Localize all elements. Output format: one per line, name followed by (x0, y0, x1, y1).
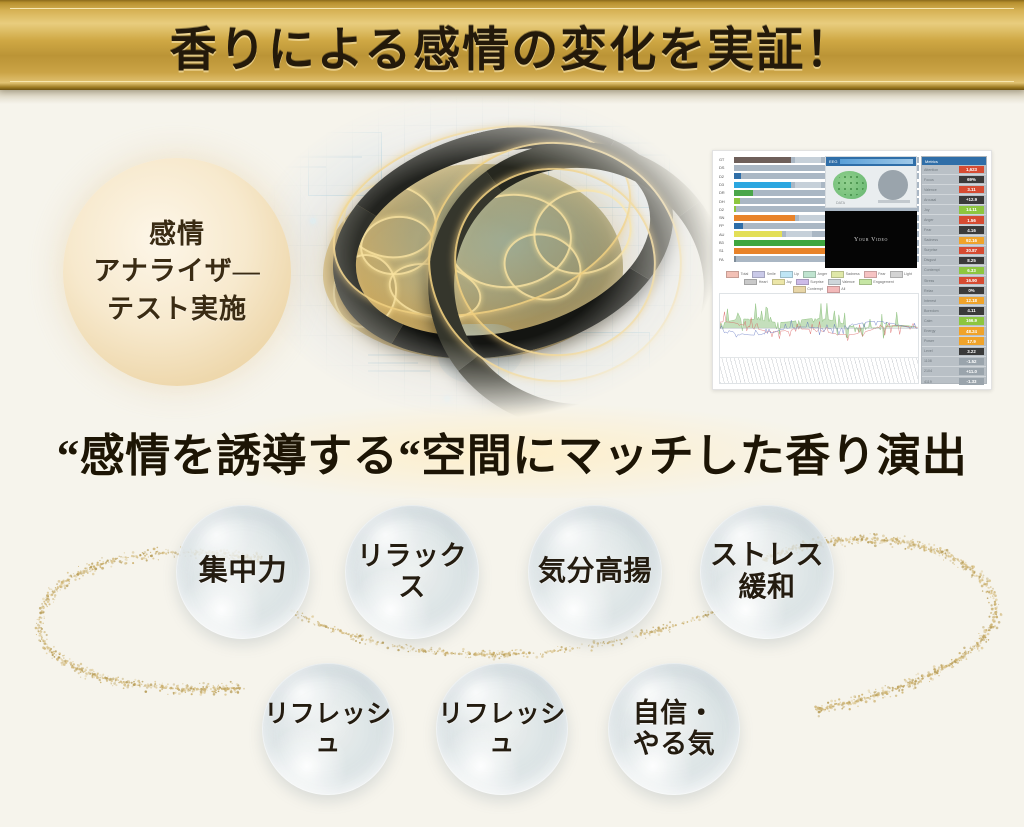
gold-dust-particle (185, 688, 186, 689)
gold-dust-particle (839, 538, 840, 539)
gold-dust-particle (500, 656, 501, 657)
gold-dust-particle (59, 585, 61, 587)
gold-dust-particle (41, 637, 42, 638)
gold-dust-particle (972, 570, 974, 572)
metrics-row-value: 3.11 (959, 186, 984, 193)
legend-swatch (859, 279, 872, 286)
gold-dust-particle (69, 575, 71, 577)
gold-dust-particle (208, 686, 210, 688)
gold-dust-particle (956, 558, 958, 560)
gold-dust-particle (966, 566, 969, 569)
gold-dust-particle (943, 553, 945, 555)
gold-dust-particle (643, 632, 646, 635)
gold-dust-particle (930, 674, 931, 675)
gold-dust-particle (652, 627, 654, 629)
legend-label: Light (904, 272, 912, 276)
bar-chart-fill (734, 198, 740, 204)
gold-dust-particle (657, 630, 660, 633)
gold-dust-particle (1000, 613, 1003, 616)
gold-dust-particle (986, 586, 987, 587)
gold-dust-particle (359, 642, 361, 644)
gold-dust-particle (854, 696, 856, 698)
gold-dust-particle (852, 539, 853, 540)
gold-dust-particle (85, 669, 87, 671)
gold-dust-particle (834, 540, 836, 542)
benefit-bubble-row1-3[interactable]: 気分高揚 (528, 505, 662, 639)
gold-dust-particle (86, 567, 87, 568)
gold-dust-particle (368, 638, 370, 640)
gold-dust-particle (871, 542, 873, 544)
gold-dust-particle (434, 651, 435, 652)
gold-dust-particle (581, 643, 583, 645)
gold-dust-particle (144, 555, 145, 556)
gold-dust-particle (396, 646, 398, 648)
timeseries-svg (720, 294, 918, 358)
gold-dust-particle (982, 590, 983, 591)
gold-dust-particle (1000, 613, 1002, 615)
gold-dust-particle (423, 650, 426, 653)
gold-dust-particle (837, 537, 840, 540)
gold-dust-particle (465, 657, 466, 658)
gold-dust-particle (386, 647, 389, 650)
gold-dust-particle (162, 685, 165, 688)
benefit-bubble-row1-1[interactable]: 集中力 (176, 505, 310, 639)
gold-dust-particle (63, 580, 65, 582)
gold-dust-particle (981, 635, 982, 636)
gold-dust-particle (352, 634, 354, 636)
gold-dust-particle (976, 643, 977, 644)
gold-dust-particle (111, 560, 114, 563)
gold-dust-particle (909, 681, 912, 684)
gold-dust-particle (953, 557, 955, 559)
gold-dust-particle (878, 695, 879, 696)
gold-dust-particle (216, 687, 217, 688)
gold-dust-particle (499, 652, 501, 654)
gold-dust-particle (902, 541, 904, 543)
gold-dust-particle (836, 540, 837, 541)
gold-dust-particle (972, 572, 975, 575)
gold-dust-particle (397, 649, 399, 651)
gold-dust-particle (174, 556, 175, 557)
gold-dust-particle (140, 555, 142, 557)
gold-dust-particle (507, 653, 509, 655)
gold-dust-particle (896, 538, 898, 540)
gold-dust-particle (124, 685, 127, 688)
gold-dust-particle (139, 682, 140, 683)
gold-dust-particle (91, 563, 93, 565)
gold-dust-particle (155, 687, 157, 689)
gold-dust-particle (872, 539, 874, 541)
gold-dust-particle (185, 685, 187, 687)
gold-dust-particle (919, 679, 920, 680)
gold-dust-particle (945, 557, 947, 559)
gold-dust-particle (155, 548, 156, 549)
gold-dust-particle (165, 552, 167, 554)
gold-dust-particle (78, 672, 80, 674)
gold-dust-particle (144, 685, 145, 686)
gold-dust-particle (815, 708, 816, 709)
gold-dust-particle (901, 541, 903, 543)
gold-dust-particle (495, 655, 497, 657)
gold-dust-particle (52, 590, 54, 592)
gold-dust-particle (320, 624, 322, 626)
gold-dust-particle (860, 540, 862, 542)
gold-dust-particle (332, 630, 335, 633)
gold-dust-particle (843, 706, 845, 708)
gold-dust-particle (172, 687, 174, 689)
metrics-row-value: 14.11 (959, 206, 984, 213)
gold-dust-particle (84, 570, 87, 573)
gold-dust-particle (154, 683, 156, 685)
gold-dust-particle (937, 670, 938, 671)
gold-dust-particle (607, 642, 609, 644)
gold-dust-particle (990, 590, 992, 592)
gold-dust-particle (229, 687, 230, 688)
gold-dust-particle (951, 662, 953, 664)
benefit-bubble-row2-2[interactable]: リフレッシュ (436, 663, 568, 795)
benefit-bubble-row2-3[interactable]: 自信・ やる気 (608, 663, 740, 795)
gold-dust-particle (317, 621, 319, 623)
gold-dust-particle (106, 561, 108, 563)
gold-dust-particle (873, 699, 874, 700)
gold-dust-particle (473, 653, 476, 656)
gold-dust-particle (49, 588, 51, 590)
gold-dust-particle (39, 607, 42, 610)
gold-dust-particle (917, 681, 919, 683)
gold-dust-particle (202, 682, 204, 684)
gold-dust-particle (502, 651, 504, 653)
gold-dust-particle (435, 654, 436, 655)
gold-dust-particle (994, 611, 996, 613)
gold-dust-particle (90, 565, 92, 567)
gold-dust-particle (127, 681, 128, 682)
gold-dust-particle (88, 672, 91, 675)
gold-dust-particle (696, 616, 698, 618)
gold-dust-particle (234, 689, 236, 691)
gold-dust-particle (986, 580, 988, 582)
gold-dust-particle (973, 571, 975, 573)
gold-dust-particle (392, 646, 394, 648)
gold-dust-particle (996, 615, 997, 616)
gold-dust-particle (692, 619, 693, 620)
gold-dust-particle (468, 652, 471, 655)
gold-dust-particle (983, 638, 984, 639)
gold-dust-particle (145, 690, 148, 693)
gold-dust-particle (83, 570, 84, 571)
gold-dust-particle (616, 640, 618, 642)
gold-dust-particle (983, 637, 985, 639)
gold-dust-particle (73, 576, 75, 578)
gold-dust-particle (213, 686, 215, 688)
brain-hero-image (248, 96, 718, 426)
gold-dust-particle (213, 685, 214, 686)
gold-dust-particle (163, 687, 165, 689)
gold-dust-particle (923, 545, 925, 547)
gold-dust-particle (71, 666, 74, 669)
metrics-row-name: Anger (922, 218, 959, 222)
gold-dust-particle (44, 643, 46, 645)
gold-dust-particle (952, 662, 954, 664)
gold-dust-particle (442, 651, 444, 653)
gold-dust-particle (167, 551, 169, 553)
gold-dust-particle (43, 647, 46, 650)
benefit-bubble-row1-2[interactable]: リラックス (345, 505, 479, 639)
gold-dust-particle (102, 677, 104, 679)
gold-dust-particle (227, 688, 229, 690)
gold-dust-particle (51, 594, 53, 596)
gold-dust-particle (90, 567, 92, 569)
gold-dust-particle (481, 654, 483, 656)
gold-dust-particle (211, 691, 213, 693)
gold-dust-particle (147, 549, 149, 551)
gold-dust-particle (64, 661, 66, 663)
gold-dust-particle (40, 622, 42, 624)
gold-dust-particle (189, 689, 191, 691)
gold-dust-particle (832, 705, 833, 706)
gold-dust-particle (907, 546, 910, 549)
gold-dust-particle (113, 560, 115, 562)
gold-dust-particle (165, 553, 167, 555)
gold-dust-particle (912, 544, 914, 546)
metrics-row-value: -1.52 (959, 358, 984, 365)
gold-dust-particle (503, 653, 505, 655)
gold-dust-particle (127, 680, 130, 683)
gold-dust-particle (922, 674, 924, 676)
gold-dust-particle (959, 660, 960, 661)
gold-dust-particle (990, 613, 991, 614)
gold-dust-particle (523, 655, 525, 657)
gold-dust-particle (963, 655, 965, 657)
gold-dust-particle (996, 606, 997, 607)
gold-dust-particle (118, 682, 119, 683)
gold-dust-particle (856, 700, 858, 702)
metrics-row: Power17.9 (922, 337, 986, 347)
gold-dust-particle (78, 668, 81, 671)
gold-dust-particle (593, 642, 595, 644)
gold-dust-particle (451, 652, 454, 655)
gold-dust-particle (160, 553, 161, 554)
gold-dust-particle (58, 656, 60, 658)
gold-dust-particle (559, 649, 561, 651)
gold-dust-particle (965, 564, 968, 567)
gold-dust-particle (453, 653, 454, 654)
benefit-bubble-row1-4[interactable]: ストレス 緩和 (700, 505, 834, 639)
gold-dust-particle (974, 646, 975, 647)
gold-dust-particle (59, 585, 61, 587)
gold-dust-particle (115, 558, 117, 560)
gold-dust-particle (839, 538, 841, 540)
gold-dust-particle (223, 688, 225, 690)
gold-dust-particle (875, 691, 877, 693)
eeg-panel-header: EEG (826, 157, 916, 166)
gold-dust-particle (826, 706, 827, 707)
gold-dust-particle (990, 604, 992, 606)
gold-dust-particle (44, 603, 46, 605)
metrics-row-value: +11.0 (959, 368, 984, 375)
legend-label: Total (741, 272, 749, 276)
bar-chart-row-label: D3 (719, 182, 734, 187)
gold-dust-particle (940, 672, 941, 673)
gold-dust-particle (951, 666, 953, 668)
gold-dust-particle (405, 644, 406, 645)
gold-dust-particle (193, 688, 195, 690)
gold-dust-particle (986, 591, 988, 593)
gold-dust-particle (650, 630, 653, 633)
gold-dust-particle (72, 661, 73, 662)
gold-dust-particle (853, 703, 855, 705)
gold-dust-particle (182, 683, 183, 684)
gold-dust-particle (854, 701, 855, 702)
gold-dust-particle (875, 695, 877, 697)
gold-dust-particle (990, 593, 991, 594)
timeseries-series (720, 312, 918, 341)
gold-dust-particle (920, 547, 922, 549)
gold-dust-particle (897, 686, 900, 689)
gold-dust-particle (119, 682, 120, 683)
gold-dust-particle (60, 583, 62, 585)
gold-dust-particle (951, 661, 953, 663)
gold-dust-particle (311, 616, 313, 618)
gold-dust-particle (987, 587, 988, 588)
gold-dust-particle (217, 686, 218, 687)
gold-dust-particle (86, 667, 88, 669)
gold-dust-particle (897, 687, 899, 689)
gold-dust-particle (525, 653, 527, 655)
gold-dust-particle (107, 560, 109, 562)
gold-dust-particle (454, 654, 455, 655)
gold-dust-particle (102, 567, 105, 570)
gold-dust-particle (895, 688, 897, 690)
gold-dust-particle (86, 563, 87, 564)
gold-dust-particle (988, 579, 991, 582)
gold-dust-particle (882, 535, 885, 538)
gold-dust-particle (454, 653, 456, 655)
gold-dust-particle (190, 688, 192, 690)
gold-dust-particle (991, 592, 992, 593)
gold-dust-particle (38, 639, 40, 641)
gold-dust-particle (960, 657, 962, 659)
gold-dust-particle (132, 551, 135, 554)
gold-dust-particle (170, 551, 172, 553)
gold-dust-particle (876, 693, 878, 695)
gold-dust-particle (422, 650, 423, 651)
gold-dust-particle (54, 591, 56, 593)
gold-dust-particle (45, 599, 47, 601)
gold-dust-particle (355, 636, 356, 637)
gold-dust-particle (112, 558, 114, 560)
gold-dust-particle (224, 688, 227, 691)
gold-dust-particle (838, 704, 839, 705)
gold-dust-particle (702, 615, 704, 617)
gold-dust-particle (856, 542, 857, 543)
gold-dust-particle (838, 698, 840, 700)
gold-dust-particle (962, 656, 965, 659)
legend-item: Fear (864, 271, 886, 278)
metrics-row: Contempt6.33 (922, 266, 986, 276)
bar-chart-fill (734, 223, 743, 229)
gold-dust-particle (424, 650, 425, 651)
dashboard-timeseries-chart (719, 293, 919, 384)
metrics-row: Focus69% (922, 175, 986, 185)
gold-dust-particle (897, 541, 898, 542)
gold-dust-particle (865, 539, 866, 540)
gold-dust-particle (994, 602, 996, 604)
gold-dust-particle (918, 543, 919, 544)
gold-dust-particle (474, 654, 477, 657)
benefit-bubble-row2-1[interactable]: リフレッシュ (262, 663, 394, 795)
gold-dust-particle (375, 643, 378, 646)
gold-dust-particle (976, 642, 979, 645)
metrics-row: Sadness92.16 (922, 236, 986, 246)
gold-dust-particle (969, 650, 970, 651)
gold-dust-particle (237, 688, 238, 689)
gold-dust-particle (236, 688, 237, 689)
gold-dust-particle (987, 587, 988, 588)
gold-dust-particle (346, 633, 348, 635)
gold-dust-particle (919, 541, 921, 543)
gold-dust-particle (185, 687, 187, 689)
gold-dust-particle (523, 651, 525, 653)
gold-dust-particle (87, 572, 89, 574)
gold-dust-particle (980, 637, 982, 639)
bar-chart-row-label: FP (719, 223, 734, 228)
gold-dust-particle (173, 693, 174, 694)
gold-dust-particle (839, 540, 841, 542)
gold-dust-particle (361, 637, 363, 639)
gold-dust-particle (60, 587, 61, 588)
gold-dust-particle (882, 689, 885, 692)
gold-dust-particle (493, 654, 495, 656)
gold-dust-particle (161, 684, 164, 687)
gold-dust-particle (913, 684, 914, 685)
gold-dust-particle (84, 671, 85, 672)
gold-dust-particle (60, 586, 62, 588)
gold-dust-particle (601, 642, 603, 644)
gold-dust-particle (134, 679, 136, 681)
metrics-row-name: Boredom (922, 309, 959, 313)
gold-dust-particle (820, 710, 822, 712)
gold-dust-particle (956, 658, 959, 661)
gold-dust-particle (856, 538, 858, 540)
gold-dust-particle (81, 668, 82, 669)
gold-dust-particle (979, 635, 981, 637)
gold-dust-particle (196, 688, 198, 690)
gold-dust-particle (821, 710, 823, 712)
gold-dust-particle (113, 682, 116, 685)
gold-dust-particle (434, 653, 436, 655)
gold-dust-particle (948, 665, 950, 667)
gold-dust-particle (860, 699, 862, 701)
gold-dust-particle (97, 672, 99, 674)
gold-dust-particle (112, 685, 113, 686)
gold-dust-particle (74, 669, 77, 672)
gold-dust-particle (139, 554, 141, 556)
gold-dust-particle (504, 654, 505, 655)
gold-dust-particle (104, 677, 106, 679)
gold-dust-particle (890, 538, 892, 540)
gold-dust-particle (71, 577, 72, 578)
gold-dust-particle (964, 564, 966, 566)
gold-dust-particle (896, 688, 898, 690)
gold-dust-particle (71, 665, 73, 667)
gold-dust-particle (640, 634, 642, 636)
gold-dust-particle (82, 570, 85, 573)
gold-dust-particle (133, 683, 136, 686)
gold-dust-particle (866, 537, 868, 539)
legend-swatch (772, 279, 785, 286)
gold-dust-particle (993, 593, 995, 595)
gold-dust-particle (92, 677, 93, 678)
